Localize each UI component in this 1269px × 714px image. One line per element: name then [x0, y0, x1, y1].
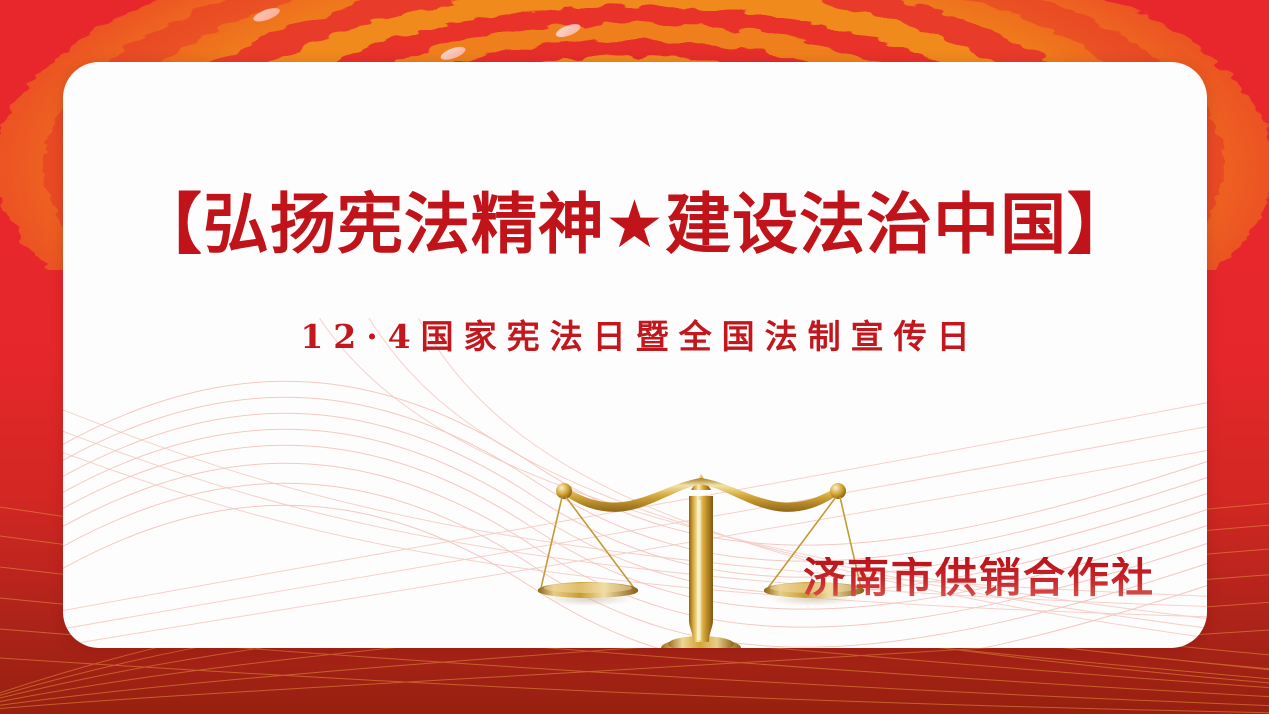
- content-card: 【弘扬宪法精神★建设法治中国】 12·4国家宪法日暨全国法制宣传日: [63, 62, 1207, 648]
- poster-canvas: 【弘扬宪法精神★建设法治中国】 12·4国家宪法日暨全国法制宣传日: [0, 0, 1269, 714]
- organization-name: 济南市供销合作社: [803, 557, 1155, 599]
- page-title: 【弘扬宪法精神★建设法治中国】: [63, 192, 1207, 258]
- page-subtitle: 12·4国家宪法日暨全国法制宣传日: [63, 320, 1207, 353]
